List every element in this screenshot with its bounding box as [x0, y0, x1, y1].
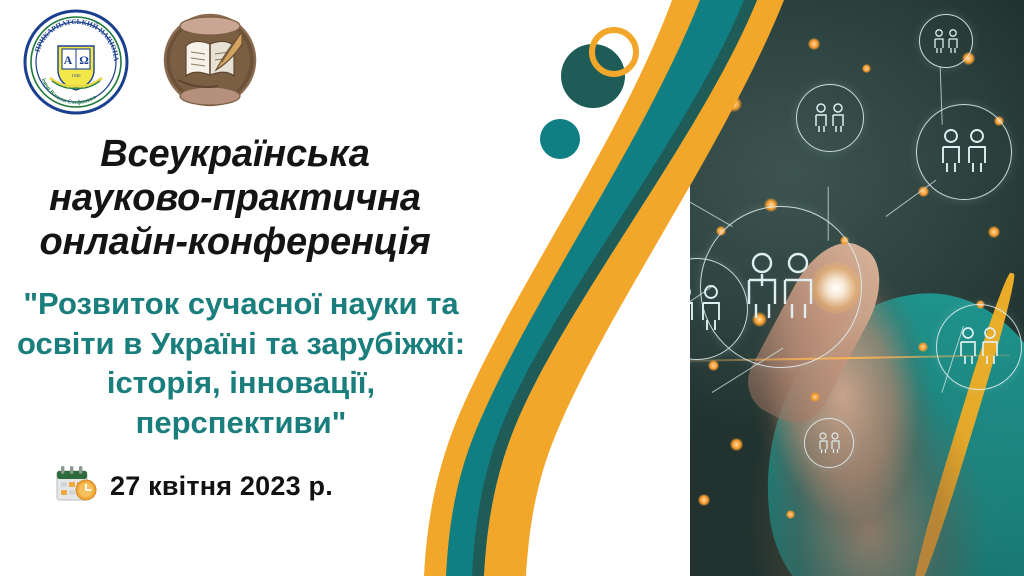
calendar-clock-icon	[52, 462, 100, 510]
title-line-1: Всеукраїнська	[0, 132, 470, 176]
subtitle-line-3: історія, інновації, перспективи"	[0, 363, 482, 442]
decor-circle-teal-small	[540, 119, 580, 159]
decor-ring-amber	[589, 27, 639, 77]
svg-text:Α: Α	[64, 53, 73, 67]
date-row: 27 квітня 2023 р.	[52, 462, 333, 510]
conference-banner: ПРИКАРПАТСЬКИЙ НАЦІОНАЛЬНИЙ УНІВЕРСИТЕТ …	[0, 0, 1024, 576]
university-seal-icon: ПРИКАРПАТСЬКИЙ НАЦІОНАЛЬНИЙ УНІВЕРСИТЕТ …	[22, 8, 130, 116]
title-line-2: науково-практична	[0, 176, 470, 220]
subtitle-line-2: освіти в Україні та зарубіжжі:	[0, 324, 482, 364]
university-seal-logo: ПРИКАРПАТСЬКИЙ НАЦІОНАЛЬНИЙ УНІВЕРСИТЕТ …	[22, 8, 130, 121]
title-line-3: онлайн-конференція	[0, 220, 470, 264]
logo-group: ПРИКАРПАТСЬКИЙ НАЦІОНАЛЬНИЙ УНІВЕРСИТЕТ …	[22, 8, 262, 121]
page-title: Всеукраїнська науково-практична онлайн-к…	[0, 132, 470, 264]
date-text: 27 квітня 2023 р.	[110, 471, 333, 502]
subtitle-line-1: "Розвиток сучасної науки та	[0, 284, 482, 324]
svg-text:1940: 1940	[72, 73, 82, 78]
conference-theme: "Розвиток сучасної науки та освіти в Укр…	[0, 284, 482, 443]
book-quill-emblem-logo	[158, 8, 262, 117]
book-quill-emblem-icon	[158, 8, 262, 112]
svg-text:Ω: Ω	[79, 53, 89, 67]
